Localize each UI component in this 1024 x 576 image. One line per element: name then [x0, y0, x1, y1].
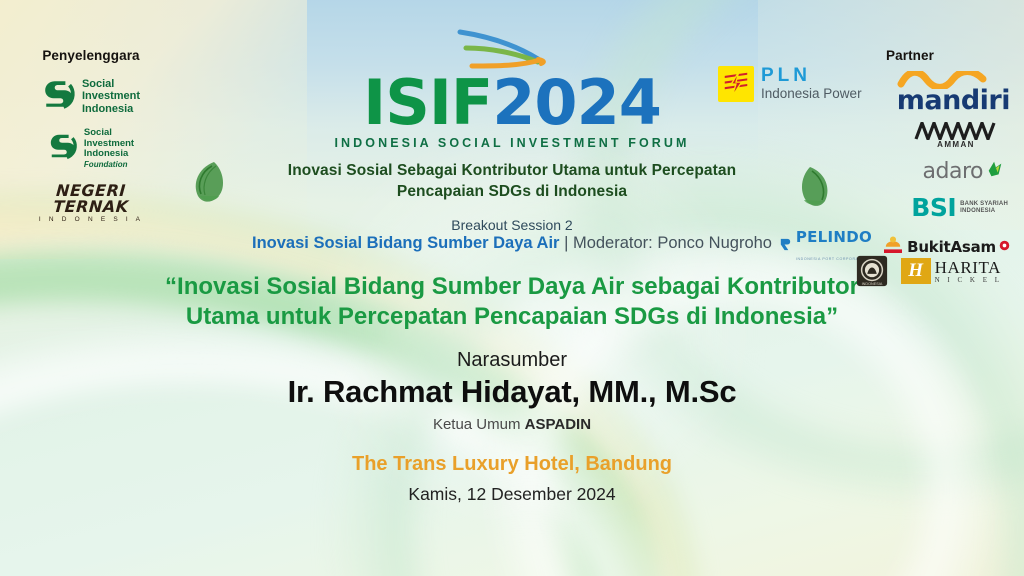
event-theme: Inovasi Sosial Sebagai Kontributor Utama…	[150, 160, 874, 203]
bsi-acronym: BSI	[911, 195, 956, 220]
session-moderator: | Moderator: Ponco Nugroho	[564, 234, 772, 252]
adaro-mark-icon	[986, 160, 1004, 183]
pln-lightning-icon	[718, 66, 754, 102]
partners-column: Partner mandiri AMMAN adaro	[818, 0, 1024, 576]
event-venue: The Trans Luxury Hotel, Bandung	[150, 453, 874, 476]
bukitasam-dot-icon	[999, 238, 1010, 256]
partner-logo-adaro: adaro	[818, 159, 1024, 184]
bsi-tagline: BANK SYARIAH INDONESIA	[960, 201, 1008, 215]
pelindo-wordmark: PELINDO	[796, 228, 872, 246]
pelindo-mark-icon	[778, 237, 793, 257]
event-date: Kamis, 12 Desember 2024	[150, 484, 874, 505]
partners-heading: Partner	[818, 48, 1024, 63]
partner-row-pertamina-harita: INDONESIA H HARITA N I C K E L	[855, 254, 1002, 288]
harita-wordmark: HARITA	[935, 258, 1001, 277]
breakout-session-label: Breakout Session 2	[150, 217, 874, 233]
presentation-slide: Penyelenggara Social Investment Indonesi…	[0, 0, 1024, 576]
partner-logo-mandiri: mandiri	[818, 71, 1024, 113]
pertamina-seal-icon: INDONESIA	[855, 254, 889, 288]
partner-logo-bsi: BSI BANK SYARIAH INDONESIA	[818, 195, 1024, 220]
partner-logo-harita-nickel: H HARITA N I C K E L	[901, 258, 1002, 284]
pln-acronym: PLN	[761, 65, 811, 86]
event-theme-line2: Pencapaian SDGs di Indonesia	[397, 183, 627, 200]
harita-subtitle: N I C K E L	[935, 277, 1002, 284]
session-headline: “Inovasi Sosial Bidang Sumber Daya Air s…	[150, 272, 874, 333]
speaker-role: Ketua Umum ASPADIN	[150, 416, 874, 433]
speaker-role-org: ASPADIN	[525, 416, 591, 433]
speaker-label: Narasumber	[150, 349, 874, 372]
bukitasam-wordmark: BukitAsam	[907, 238, 996, 256]
speaker-role-prefix: Ketua Umum	[433, 416, 525, 433]
adaro-wordmark: adaro	[923, 159, 983, 184]
amman-wordmark: AMMAN	[914, 140, 998, 149]
speaker-name: Ir. Rachmat Hidayat, MM., M.Sc	[150, 374, 874, 410]
session-title: Inovasi Sosial Bidang Sumber Daya Air	[252, 234, 559, 252]
harita-monogram-icon: H	[901, 258, 931, 284]
partner-logo-pertamina: INDONESIA	[855, 254, 889, 288]
event-theme-line1: Inovasi Sosial Sebagai Kontributor Utama…	[288, 162, 736, 179]
svg-text:INDONESIA: INDONESIA	[861, 282, 882, 286]
partner-logo-amman: AMMAN	[818, 122, 1024, 149]
amman-zigzag-icon	[914, 122, 998, 140]
session-line: Inovasi Sosial Bidang Sumber Daya Air | …	[150, 234, 874, 253]
mandiri-wordmark: mandiri	[897, 89, 1010, 113]
